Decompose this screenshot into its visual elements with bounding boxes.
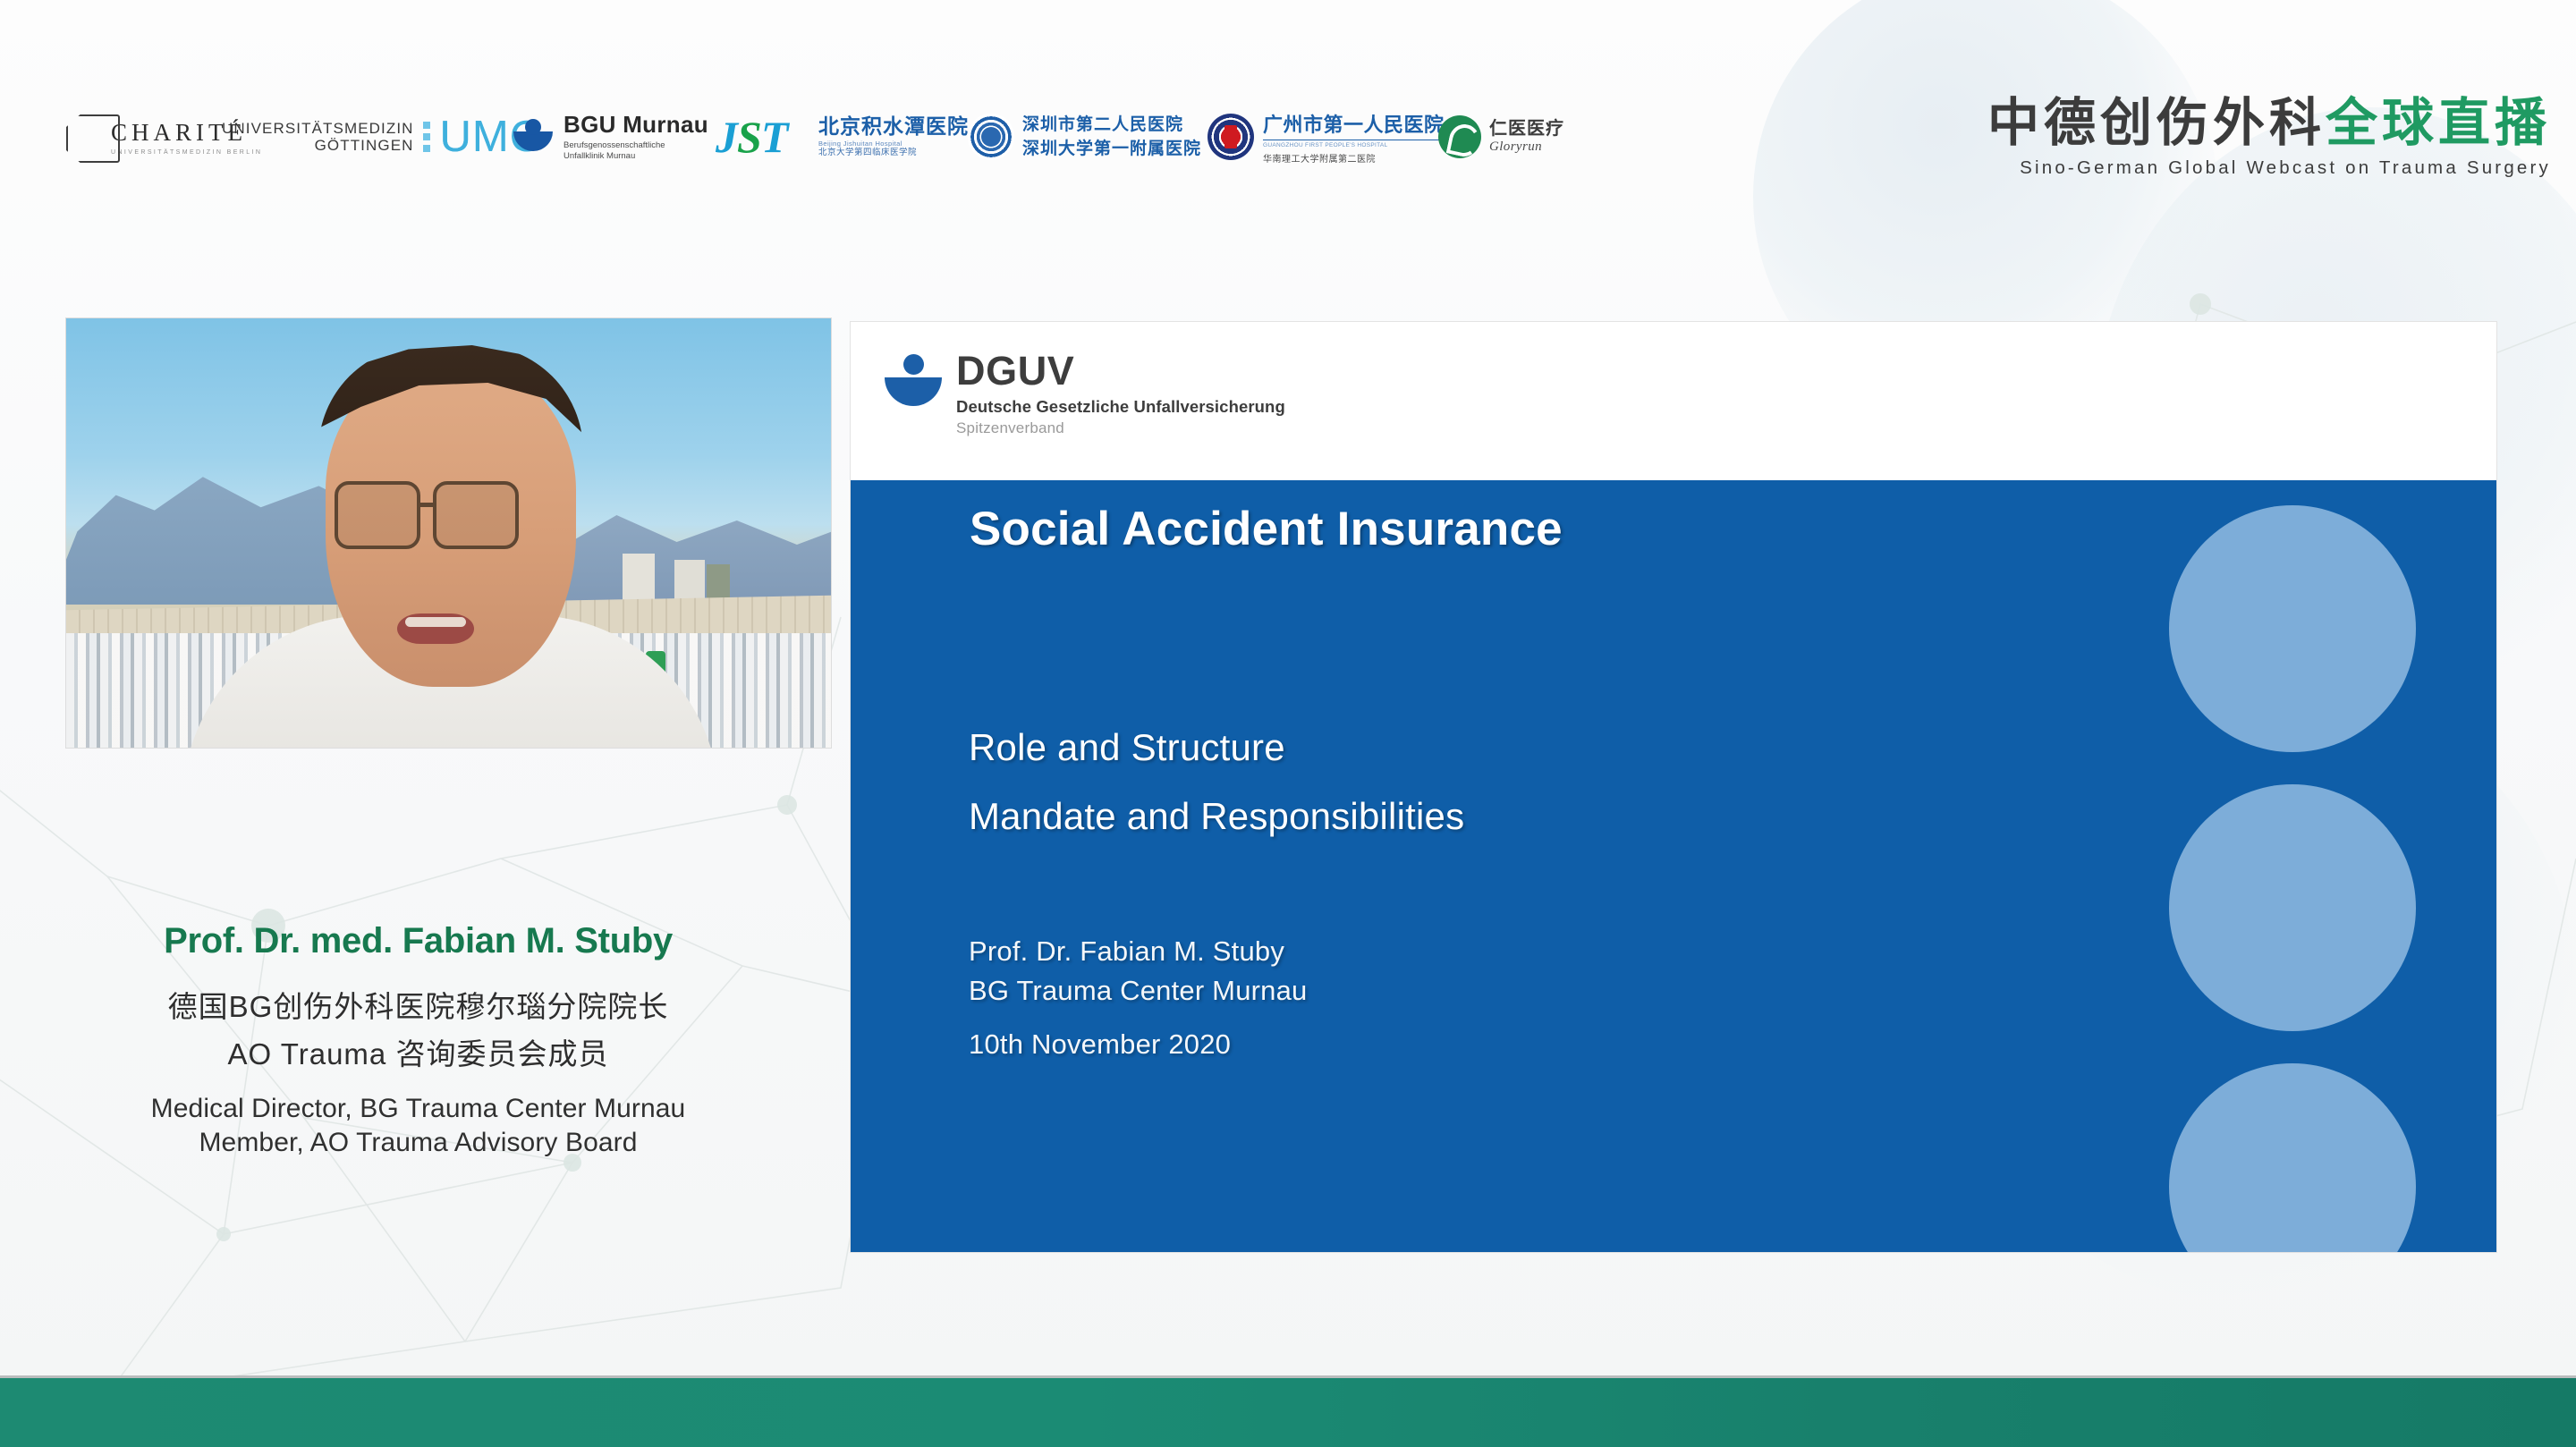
event-title-block: 中德创伤外科全球直播 Sino-German Global Webcast on… — [1987, 97, 2551, 179]
logo-bgu-murnau: BGU Murnau Berufsgenossenschaftliche Unf… — [512, 98, 708, 175]
event-title-cn-dark: 中德创伤外科 — [1987, 94, 2326, 152]
speaker-glasses-bridge — [420, 503, 436, 507]
dguv-logo-icon — [885, 354, 942, 410]
logo-gloryrun: 仁医医疗 Gloryrun — [1438, 98, 1564, 175]
gloryrun-circle-icon — [1438, 115, 1481, 158]
logo-umg: UNIVERSITÄTSMEDIZIN GÖTTINGEN UMG — [222, 98, 545, 175]
presentation-slide[interactable]: DGUV Deutsche Gesetzliche Unfallversiche… — [851, 322, 2496, 1252]
speaker-video-feed[interactable] — [65, 317, 832, 749]
umg-dots-icon — [423, 122, 431, 152]
speaker-glasses-right-lens — [433, 481, 519, 549]
bgu-sub-1: Berufsgenossenschaftliche — [563, 140, 708, 151]
dguv-subtitle: Spitzenverband — [956, 419, 1285, 437]
webcast-stage: CHARITÉ UNIVERSITÄTSMEDIZIN BERLIN UNIVE… — [0, 0, 2576, 1447]
slide-decor-circle-3 — [2169, 1063, 2416, 1252]
speaker-name: Prof. Dr. med. Fabian M. Stuby — [0, 921, 836, 961]
speaker-title-en-1: Medical Director, BG Trauma Center Murna… — [0, 1094, 836, 1124]
bgu-bowl-icon — [512, 117, 555, 157]
speaker-title-en-2: Member, AO Trauma Advisory Board — [0, 1128, 836, 1158]
bgu-sub-2: Unfallklinik Murnau — [563, 151, 708, 162]
slide-decor-circle-2 — [2169, 784, 2416, 1031]
guangzhou-en-name: GUANGZHOU FIRST PEOPLE'S HOSPITAL — [1263, 142, 1445, 148]
slide-author-affiliation: BG Trauma Center Murnau — [969, 971, 1307, 1011]
slide-author-block: Prof. Dr. Fabian M. Stuby BG Trauma Cent… — [969, 932, 1307, 1011]
slide-subtitle-1: Role and Structure — [969, 726, 1285, 769]
guangzhou-cn-name: 广州市第一人民医院 — [1263, 109, 1445, 140]
slide-body: Social Accident Insurance Role and Struc… — [851, 480, 2496, 1252]
umg-line-2: GÖTTINGEN — [222, 137, 414, 154]
jishuitan-sub-name: 北京大学第四临床医学院 — [818, 148, 969, 158]
slide-subtitle-2: Mandate and Responsibilities — [969, 795, 1464, 838]
jst-wordmark: JST — [716, 111, 787, 163]
guangzhou-sub-name: 华南理工大学附属第二医院 — [1263, 151, 1445, 165]
logo-beijing-jishuitan: 北京积水潭医院 Beijing Jishuitan Hospital 北京大学第… — [818, 98, 969, 175]
slide-title: Social Accident Insurance — [970, 502, 1563, 556]
shenzhen-cn-line-1: 深圳市第二人民医院 — [1022, 115, 1201, 134]
slide-header: DGUV Deutsche Gesetzliche Unfallversiche… — [851, 322, 2496, 480]
footer-bar — [0, 1375, 2576, 1447]
jishuitan-en-name: Beijing Jishuitan Hospital — [818, 140, 969, 148]
gloryrun-cn-name: 仁医医疗 — [1489, 120, 1564, 138]
logo-jst: JST — [716, 98, 787, 175]
jishuitan-cn-name: 北京积水潭医院 — [818, 115, 969, 139]
dguv-abbreviation: DGUV — [956, 351, 1285, 391]
speaker-mouth — [397, 613, 474, 644]
event-title-cn: 中德创伤外科全球直播 — [1987, 97, 2551, 149]
partner-logo-bar: CHARITÉ UNIVERSITÄTSMEDIZIN BERLIN UNIVE… — [0, 98, 1610, 175]
slide-author-name: Prof. Dr. Fabian M. Stuby — [969, 932, 1307, 971]
event-title-en: Sino-German Global Webcast on Trauma Sur… — [1987, 157, 2551, 179]
speaker-title-cn-2: AO Trauma 咨询委员会成员 — [0, 1030, 836, 1073]
slide-decor-circle-1 — [2169, 505, 2416, 752]
event-title-cn-green: 全球直播 — [2326, 94, 2551, 152]
guangzhou-seal-icon — [1207, 114, 1254, 160]
shenzhen-seal-icon — [968, 114, 1014, 160]
shenzhen-cn-line-2: 深圳大学第一附属医院 — [1022, 140, 1201, 158]
slide-date: 10th November 2020 — [969, 1028, 1231, 1061]
dguv-full-name: Deutsche Gesetzliche Unfallversicherung — [956, 397, 1285, 417]
speaker-title-cn-1: 德国BG创伤外科医院穆尔瑙分院院长 — [0, 983, 836, 1026]
speaker-glasses-left-lens — [335, 481, 420, 549]
speaker-caption-block: Prof. Dr. med. Fabian M. Stuby 德国BG创伤外科医… — [0, 921, 836, 1158]
logo-guangzhou-first-people: 广州市第一人民医院 GUANGZHOU FIRST PEOPLE'S HOSPI… — [1207, 98, 1445, 175]
umg-line-1: UNIVERSITÄTSMEDIZIN — [222, 120, 414, 137]
gloryrun-en-name: Gloryrun — [1489, 140, 1564, 155]
charite-hexagon-icon — [64, 109, 131, 165]
bgu-title: BGU Murnau — [563, 113, 708, 136]
logo-shenzhen-second-people: 深圳市第二人民医院 深圳大学第一附属医院 — [968, 98, 1201, 175]
